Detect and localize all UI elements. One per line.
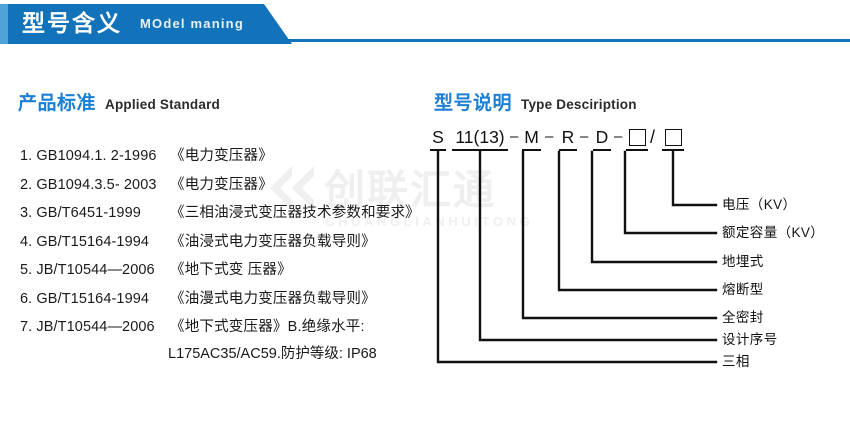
banner-title-en: MOdel maning bbox=[140, 15, 244, 33]
leader-line-fuse-type bbox=[559, 152, 716, 290]
header-banner: 型号含义 MOdel maning bbox=[0, 0, 850, 46]
standard-name: 《油浸式电力变压器负载导则》 bbox=[170, 230, 376, 251]
model-code-separator-2: – bbox=[545, 126, 553, 148]
empty-box-icon bbox=[665, 129, 682, 146]
callout-label-fully-sealed: 全密封 bbox=[722, 310, 764, 326]
model-code-divider: / bbox=[650, 126, 655, 148]
standard-code: 5. JB/T10544—2006 bbox=[20, 262, 170, 278]
standard-code: 6. GB/T15164-1994 bbox=[20, 291, 170, 307]
applied-standard-heading: 产品标准Applied Standard bbox=[18, 88, 220, 115]
applied-standards-list: 1. GB1094.1. 2-1996 《电力变压器》 2. GB1094.3.… bbox=[20, 144, 420, 344]
applied-standard-heading-cn: 产品标准 bbox=[18, 93, 96, 114]
standard-name: 《地下式变 压器》 bbox=[170, 258, 292, 279]
standard-code: 2. GB1094.3.5- 2003 bbox=[20, 177, 170, 193]
model-code-segment-voltage-box bbox=[627, 127, 647, 149]
callout-label-voltage: 电压（KV） bbox=[722, 197, 796, 213]
model-code-segment-r: R bbox=[560, 126, 576, 148]
model-code-segment-capacity-box bbox=[663, 127, 683, 149]
leader-line-three-phase bbox=[438, 152, 716, 362]
model-code-separator-3: – bbox=[580, 126, 588, 148]
standard-name: 《三相油浸式变压器技术参数和要求》 bbox=[170, 201, 420, 222]
callout-label-design-serial: 设计序号 bbox=[722, 332, 778, 348]
callout-label-buried-type: 地埋式 bbox=[722, 254, 764, 270]
type-description-heading-cn: 型号说明 bbox=[434, 93, 512, 114]
list-item: 4. GB/T15164-1994 《油浸式电力变压器负载导则》 bbox=[20, 230, 420, 259]
model-code-segment-m: M bbox=[523, 126, 540, 148]
list-item: 7. JB/T10544—2006 《地下式变压器》B.绝缘水平: bbox=[20, 315, 420, 344]
model-code-segment-s: S bbox=[430, 126, 446, 148]
standard-code: 1. GB1094.1. 2-1996 bbox=[20, 148, 170, 164]
model-code-underline-box-1 bbox=[626, 149, 648, 151]
model-code-underline-11-13 bbox=[452, 149, 508, 151]
standard-code: 4. GB/T15164-1994 bbox=[20, 234, 170, 250]
applied-standard-heading-en: Applied Standard bbox=[105, 97, 220, 112]
leader-line-rated-capacity bbox=[625, 152, 716, 233]
standard-continuation-line: L175AC35/AC59.防护等级: IP68 bbox=[168, 342, 377, 363]
model-code-underline-r bbox=[559, 149, 577, 151]
leader-line-design-serial bbox=[480, 152, 716, 340]
model-code-underline-d bbox=[593, 149, 611, 151]
callout-label-three-phase: 三相 bbox=[722, 354, 750, 370]
leader-line-fully-sealed bbox=[523, 152, 716, 318]
standard-code: 7. JB/T10544—2006 bbox=[20, 319, 170, 335]
standard-name: 《油漫式电力变压器负载导则》 bbox=[170, 287, 376, 308]
model-code-separator-1: – bbox=[510, 126, 518, 148]
banner-left-accent-bar bbox=[0, 4, 8, 44]
empty-box-icon bbox=[629, 129, 646, 146]
list-item: 2. GB1094.3.5- 2003 《电力变压器》 bbox=[20, 173, 420, 202]
callout-label-rated-capacity: 额定容量（KV） bbox=[722, 225, 824, 241]
list-item: 5. JB/T10544—2006 《地下式变 压器》 bbox=[20, 258, 420, 287]
list-item: 1. GB1094.1. 2-1996 《电力变压器》 bbox=[20, 144, 420, 173]
callout-label-fuse-type: 熔断型 bbox=[722, 282, 764, 298]
list-item: 3. GB/T6451-1999 《三相油浸式变压器技术参数和要求》 bbox=[20, 201, 420, 230]
standard-name: 《地下式变压器》B.绝缘水平: bbox=[170, 315, 365, 336]
banner-angled-tail bbox=[252, 4, 292, 44]
model-code-underline-s bbox=[430, 149, 446, 151]
model-code-underline-box-2 bbox=[662, 149, 684, 151]
type-description-heading-en: Type Desciription bbox=[521, 97, 637, 112]
list-item: 6. GB/T15164-1994 《油漫式电力变压器负载导则》 bbox=[20, 287, 420, 316]
banner-title-cn: 型号含义 bbox=[22, 7, 122, 40]
standard-name: 《电力变压器》 bbox=[170, 144, 273, 165]
standard-code: 3. GB/T6451-1999 bbox=[20, 205, 170, 221]
model-code-segment-d: D bbox=[594, 126, 610, 148]
standard-name: 《电力变压器》 bbox=[170, 173, 273, 194]
model-code-separator-4: – bbox=[614, 126, 622, 148]
model-code-underline-m bbox=[522, 149, 541, 151]
model-designation-page: 型号含义 MOdel maning 产品标准Applied Standard 型… bbox=[0, 0, 850, 438]
leader-line-buried-type bbox=[592, 152, 716, 262]
leader-line-voltage bbox=[673, 152, 716, 205]
type-description-heading: 型号说明Type Desciription bbox=[434, 88, 637, 115]
model-code-segment-11-13: 11(13) bbox=[452, 126, 508, 148]
